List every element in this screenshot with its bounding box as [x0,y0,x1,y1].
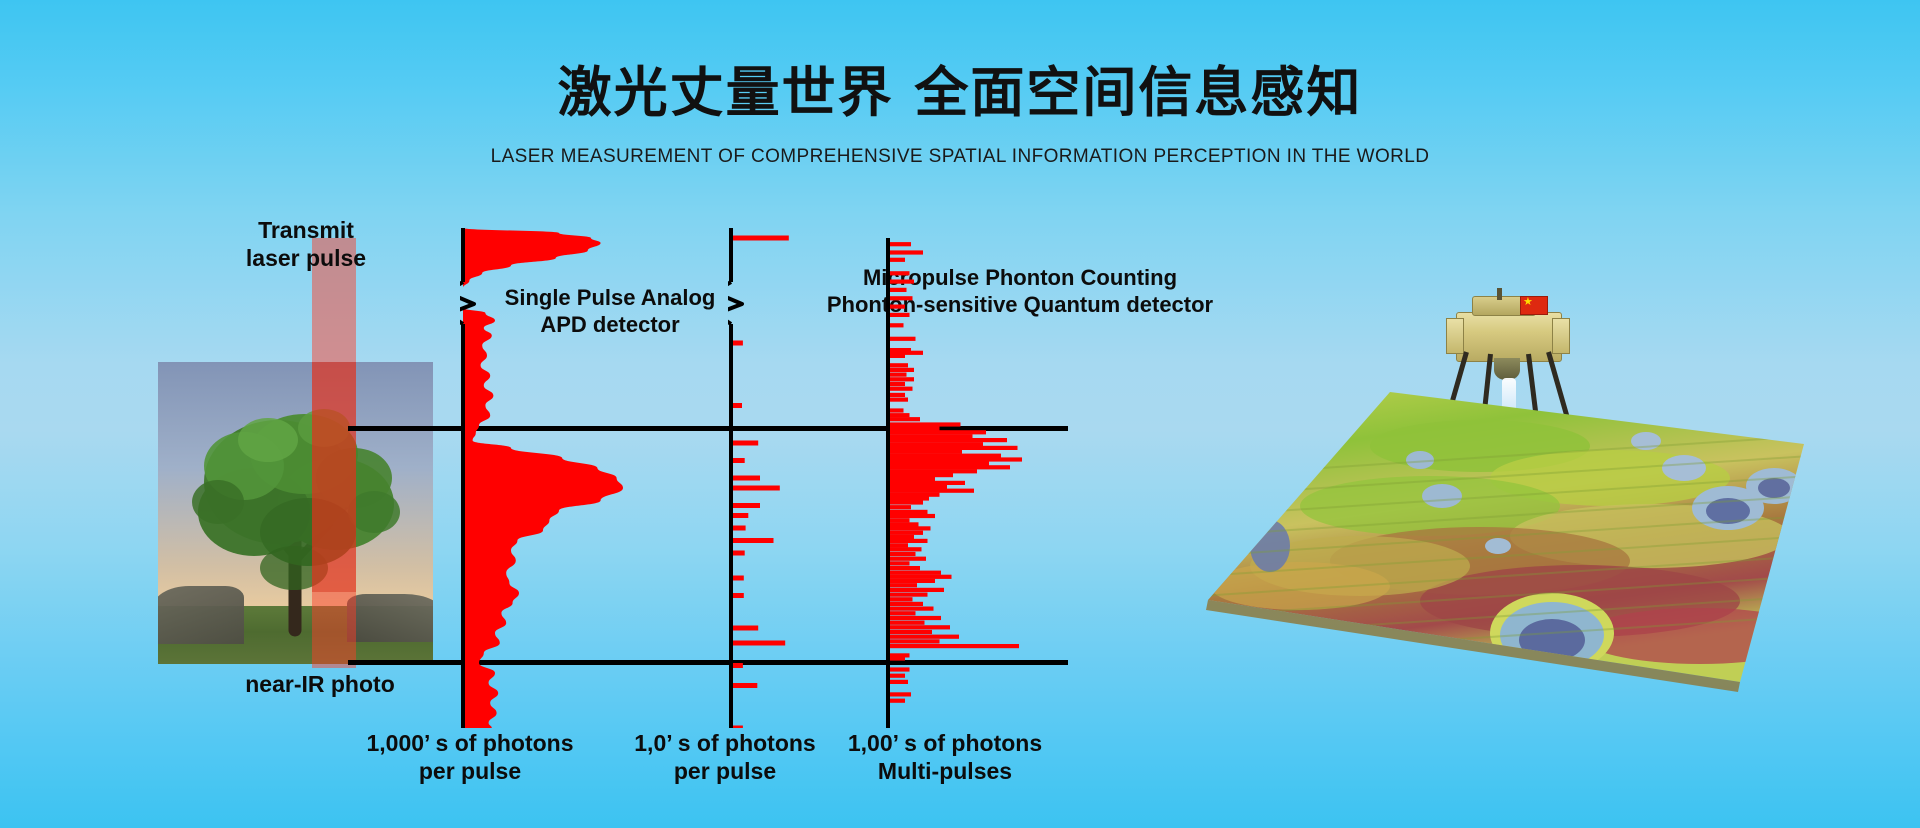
footer-1-line2: per pulse [330,758,610,786]
photon-spike [890,305,905,309]
footer-2-line1: 1,0’ s of photons [600,730,850,758]
photon-spike [890,625,950,629]
photon-spike [890,543,908,547]
lander-panel-right [1552,318,1570,354]
photon-spike [733,458,745,463]
photon-spike [890,680,908,684]
transmit-laser-pulse-label: Transmit laser pulse [216,216,396,272]
photon-spike [890,477,935,481]
photon-spike [890,552,916,556]
photon-spike [733,341,743,346]
photon-spike [890,522,919,526]
photon-spike [890,547,922,551]
photon-spike [890,271,910,275]
photon-spike [890,427,940,431]
photon-spike [890,518,910,522]
lander-engine-nozzle [1494,358,1520,380]
photon-spike [890,575,952,579]
footer-caption-micropulse: 1,00’ s of photons Multi-pulses [820,730,1070,785]
near-ir-photo-caption: near-IR photo [200,670,440,698]
photon-spike [733,641,785,646]
photon-spike [733,476,760,481]
photon-spike [890,461,989,465]
photon-spike [890,398,908,402]
photon-spike [890,337,916,341]
footer-caption-single-photon: 1,0’ s of photons per pulse [600,730,850,785]
photon-spike [890,377,914,381]
photon-spike [890,602,923,606]
photon-spike [890,413,910,417]
transmit-laser-beam [312,238,356,668]
photon-spike [890,469,977,473]
photon-spike [733,663,743,668]
photon-spike [890,535,914,539]
lander-panel-left [1446,318,1464,354]
photon-spike [890,692,911,696]
photon-spike [890,526,931,530]
photon-spike [890,442,983,446]
photon-spike [890,639,940,643]
photon-spike [890,593,928,597]
photon-spike [890,438,1007,442]
photon-spike [890,434,973,438]
photon-spike [890,417,920,421]
photon-spike [890,408,904,412]
photon-spike [890,510,928,514]
photon-spike [890,250,923,254]
page-subtitle: LASER MEASUREMENT OF COMPREHENSIVE SPATI… [0,146,1920,168]
photon-spike [890,454,1001,458]
photon-spike [890,387,913,391]
photon-spike [733,486,780,491]
photon-spike [890,354,905,358]
china-flag-icon [1520,296,1548,315]
photon-spike [733,441,758,446]
photon-spike [890,446,1018,450]
photon-spike [733,726,743,729]
sparse-spike-group [733,236,789,729]
photon-spike [890,500,923,504]
transmit-label-line2: laser pulse [216,244,396,272]
footer-caption-analog: 1,000’ s of photons per pulse [330,730,610,785]
photon-spike [890,667,910,671]
photon-spike [733,683,757,688]
lidar-3d-terrain-scene [1180,290,1820,750]
photon-spike [890,699,905,703]
footer-3-line1: 1,00’ s of photons [820,730,1070,758]
photon-spike [890,368,914,372]
lander-antenna-mast [1497,288,1502,300]
chart-single-photon-spikes [728,228,838,728]
photon-spike [890,630,932,634]
photon-spike [733,538,774,543]
photon-spike [733,236,789,241]
photo-tree [158,362,433,664]
photon-spike [890,505,911,509]
photon-spike [890,579,935,583]
photon-spike [890,616,941,620]
photon-spike [890,493,940,497]
photon-spike [733,513,748,518]
photon-spike [890,557,926,561]
photon-spike [890,571,941,575]
photon-spike [890,561,910,565]
photon-spike [733,403,742,408]
photon-spike [890,531,923,535]
footer-1-line1: 1,000’ s of photons [330,730,610,758]
photon-spike [890,296,913,300]
photon-spike [733,626,758,631]
photon-spike [890,583,917,587]
photon-spike [890,539,928,543]
photon-spike [733,576,744,581]
photon-spike [890,373,907,377]
photon-spike [890,588,944,592]
dense-spike-group [890,348,1022,703]
photon-spike [890,382,905,386]
photon-spike [890,363,908,367]
photon-spike [890,496,929,500]
photon-spike [890,393,905,397]
photon-spike [890,258,905,262]
page-title: 激光丈量世界 全面空间信息感知 [0,48,1920,127]
footer-2-line2: per pulse [600,758,850,786]
photon-spike [733,526,746,531]
sparse-axis-break-zigzag-icon [728,282,742,324]
chart-single-pulse-analog [460,228,670,728]
photon-spike [890,280,914,284]
photon-spike [890,635,959,639]
photon-spike [733,593,744,598]
photon-spike [890,481,965,485]
photon-spike [890,656,905,660]
photon-spike [890,422,961,426]
photon-spike [890,644,1019,648]
laser-beam-canopy-overlap [312,362,356,592]
analog-waveform-area [463,228,623,728]
photon-spike [890,611,916,615]
photon-spike [890,465,1010,469]
photon-spike [890,323,904,327]
photon-spike [890,288,907,292]
footer-3-line2: Multi-pulses [820,758,1070,786]
photon-spike [890,313,910,317]
photon-spike [890,450,962,454]
photon-spike [890,489,974,493]
photon-spike [890,514,935,518]
photon-spike [890,566,920,570]
near-ir-tree-photo [158,362,433,664]
photon-spike [890,597,913,601]
photon-spike [890,485,947,489]
colorized-3d-elevation-model [1180,386,1820,746]
banner-canvas: 激光丈量世界 全面空间信息感知 LASER MEASUREMENT OF COM… [0,0,1920,828]
chart-micropulse-photon-counting [885,348,1075,728]
photon-spike [733,503,760,508]
photon-spike [890,674,905,678]
chart-micropulse-above-canopy [885,238,1075,348]
photon-spike [890,457,1022,461]
photon-spike [890,607,934,611]
photon-spike [890,473,953,477]
photon-spike [890,621,925,625]
transmit-label-line1: Transmit [216,216,396,244]
photon-spike [733,551,745,556]
photon-spike [890,430,986,434]
photon-spike [890,242,911,246]
